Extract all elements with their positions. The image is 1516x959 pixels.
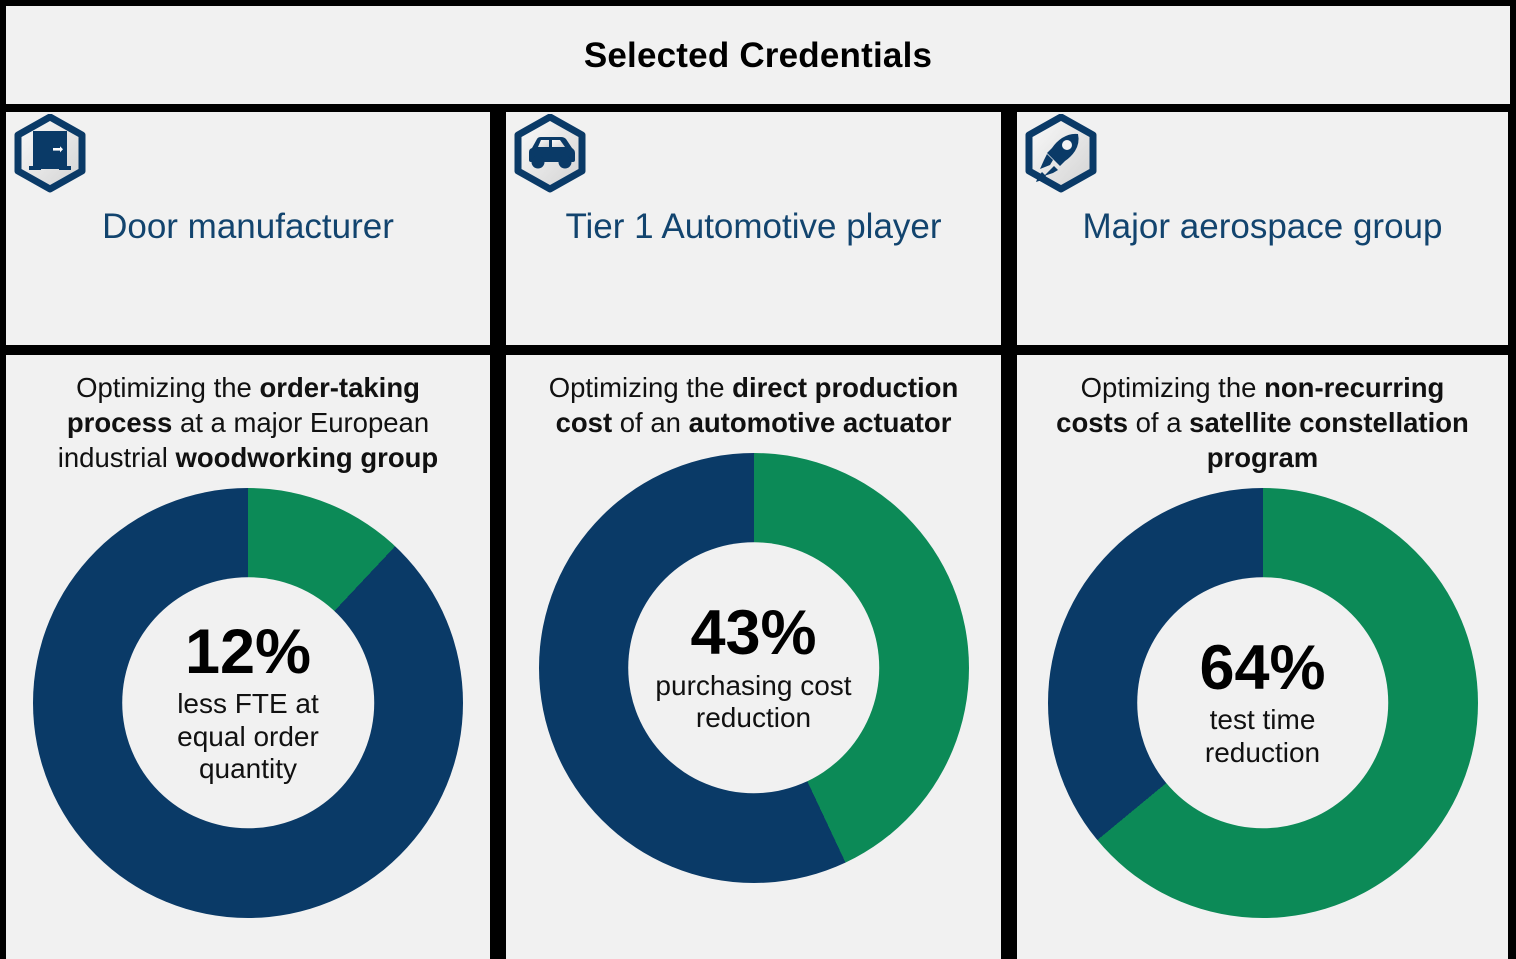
credential-body-card-3: Optimizing the non-recurring costs of a … bbox=[1017, 355, 1508, 959]
donut-percent-2: 43% bbox=[690, 602, 816, 666]
credential-header-card-1: Door manufacturer bbox=[6, 112, 490, 345]
donut-center-3: 64% test time reduction bbox=[1137, 577, 1389, 829]
donut-percent-1: 12% bbox=[185, 620, 311, 684]
credential-column-automotive: Tier 1 Automotive player Optimizing the … bbox=[506, 112, 1001, 959]
donut-caption-2: purchasing cost reduction bbox=[646, 670, 861, 734]
page-title: Selected Credentials bbox=[584, 38, 932, 73]
donut-caption-1: less FTE at equal order quantity bbox=[140, 689, 355, 786]
donut-center-1: 12% less FTE at equal order quantity bbox=[122, 577, 374, 829]
credential-header-card-3: Major aerospace group bbox=[1017, 112, 1508, 345]
credential-body-card-2: Optimizing the direct production cost of… bbox=[506, 355, 1001, 959]
donut-center-2: 43% purchasing cost reduction bbox=[628, 542, 880, 794]
car-icon bbox=[511, 114, 589, 194]
donut-caption-3: test time reduction bbox=[1155, 705, 1370, 769]
rocket-icon bbox=[1022, 114, 1100, 194]
credential-title-1: Door manufacturer bbox=[6, 208, 490, 247]
credential-columns: Door manufacturer Optimizing the order-t… bbox=[0, 112, 1516, 959]
credential-column-aerospace: Major aerospace group Optimizing the non… bbox=[1017, 112, 1508, 959]
credential-title-2: Tier 1 Automotive player bbox=[506, 208, 1001, 247]
donut-chart-1: 12% less FTE at equal order quantity bbox=[33, 488, 463, 918]
slide-title-band: Selected Credentials bbox=[6, 6, 1510, 104]
credential-body-card-1: Optimizing the order-taking process at a… bbox=[6, 355, 490, 959]
donut-percent-3: 64% bbox=[1199, 636, 1325, 700]
credential-blurb-2: Optimizing the direct production cost of… bbox=[544, 371, 964, 441]
credential-blurb-3: Optimizing the non-recurring costs of a … bbox=[1053, 371, 1473, 476]
door-icon bbox=[11, 114, 89, 194]
credential-blurb-1: Optimizing the order-taking process at a… bbox=[38, 371, 458, 476]
slide-root: Selected Credentials bbox=[0, 0, 1516, 959]
donut-chart-2: 43% purchasing cost reduction bbox=[539, 453, 969, 883]
credential-column-door: Door manufacturer Optimizing the order-t… bbox=[6, 112, 490, 959]
credential-header-card-2: Tier 1 Automotive player bbox=[506, 112, 1001, 345]
credential-title-3: Major aerospace group bbox=[1017, 208, 1508, 247]
donut-chart-3: 64% test time reduction bbox=[1048, 488, 1478, 918]
